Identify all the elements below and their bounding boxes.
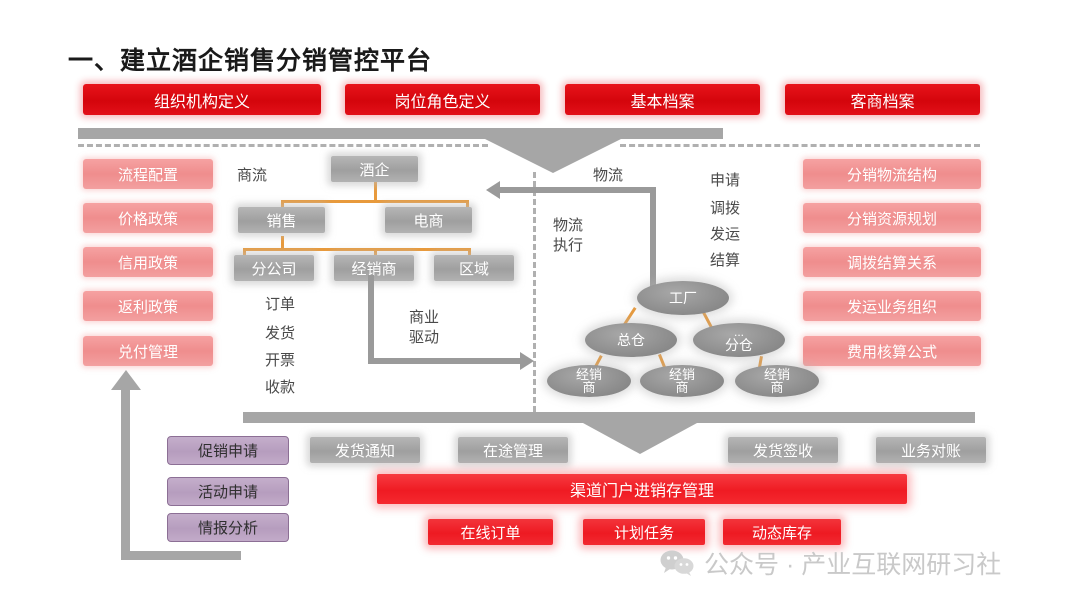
bottom-item-delivery-receipt[interactable]: 发货签收 — [728, 437, 838, 463]
left-button-credit-policy[interactable]: 信用政策 — [83, 247, 213, 277]
business-driver-line1: 商业 — [409, 309, 439, 326]
right-button-cost-formula[interactable]: 费用核算公式 — [803, 336, 981, 366]
top-button-job-role[interactable]: 岗位角色定义 — [345, 84, 540, 115]
logistics-section-label: 物流 — [593, 165, 623, 187]
bottom-item-in-transit-mgmt[interactable]: 在途管理 — [458, 437, 568, 463]
logistics-execution-label: 物流 执行 — [553, 216, 583, 257]
payment-feedback-arrow-base — [121, 551, 241, 560]
org-node-dealer[interactable]: 经销商 — [334, 255, 414, 281]
left-button-price-policy[interactable]: 价格政策 — [83, 203, 213, 233]
bottom-flow-down-arrow — [583, 423, 697, 454]
top-button-customer-archive[interactable]: 客商档案 — [785, 84, 980, 115]
network-node-dealer-3-line2: 商 — [764, 381, 790, 394]
logistics-exec-arrow-horizontal — [500, 187, 656, 193]
org-connector-level3-horizontal — [243, 248, 471, 251]
right-button-shipping-org[interactable]: 发运业务组织 — [803, 291, 981, 321]
commerce-step-shipment: 发货 — [265, 323, 295, 345]
org-connector-root-down — [374, 182, 377, 202]
bottom-button-intel-analysis[interactable]: 情报分析 — [167, 513, 289, 542]
dashed-divider-left — [78, 144, 488, 147]
right-button-transfer-settlement[interactable]: 调拨结算关系 — [803, 247, 981, 277]
bottom-item-business-reconcile[interactable]: 业务对账 — [876, 437, 986, 463]
business-driver-arrow-head — [520, 352, 534, 370]
commerce-step-invoice: 开票 — [265, 350, 295, 372]
logistics-step-ship: 发运 — [710, 224, 740, 246]
commerce-step-order: 订单 — [265, 294, 295, 316]
logistics-step-settle: 结算 — [710, 250, 740, 272]
network-node-dealer-2[interactable]: 经销 商 — [640, 365, 724, 397]
page-title: 一、建立酒企销售分销管控平台 — [68, 41, 432, 77]
commerce-section-label: 商流 — [237, 165, 267, 187]
commerce-step-collection: 收款 — [265, 377, 295, 399]
logistics-exec-line2: 执行 — [553, 237, 583, 254]
bottom-button-promotion-apply[interactable]: 促销申请 — [167, 436, 289, 465]
org-node-ecommerce[interactable]: 电商 — [385, 207, 472, 233]
dashed-divider-right — [620, 144, 980, 147]
left-button-process-config[interactable]: 流程配置 — [83, 159, 213, 189]
network-node-dealer-2-line2: 商 — [669, 381, 695, 394]
bottom-red-dynamic-inventory[interactable]: 动态库存 — [723, 519, 841, 545]
logistics-step-transfer: 调拨 — [710, 198, 740, 220]
network-node-dealer-1-line2: 商 — [576, 381, 602, 394]
payment-feedback-arrow-shaft — [121, 385, 130, 560]
business-driver-line2: 驱动 — [409, 329, 439, 346]
business-driver-label: 商业 驱动 — [409, 308, 439, 349]
commerce-logistics-divider — [533, 172, 536, 412]
business-driver-arrow-vertical — [368, 275, 374, 363]
org-node-liquor-company[interactable]: 酒企 — [331, 156, 418, 182]
wechat-icon — [660, 549, 694, 577]
logistics-exec-line1: 物流 — [553, 217, 583, 234]
bottom-red-plan-task[interactable]: 计划任务 — [583, 519, 705, 545]
top-button-org-structure[interactable]: 组织机构定义 — [83, 84, 321, 115]
org-connector-level2-horizontal — [281, 200, 469, 203]
logistics-exec-arrow-vertical — [650, 190, 656, 290]
bottom-button-activity-apply[interactable]: 活动申请 — [167, 477, 289, 506]
payment-feedback-arrow-head — [111, 370, 141, 390]
logistics-exec-arrow-head — [486, 181, 500, 199]
right-button-dist-resource-plan[interactable]: 分销资源规划 — [803, 203, 981, 233]
watermark: 公众号 · 产业互联网研习社 — [660, 545, 1001, 581]
channel-portal-bar[interactable]: 渠道门户进销存管理 — [377, 474, 907, 504]
left-button-payment-mgmt[interactable]: 兑付管理 — [83, 336, 213, 366]
top-button-basic-archive[interactable]: 基本档案 — [565, 84, 760, 115]
left-button-rebate-policy[interactable]: 返利政策 — [83, 291, 213, 321]
network-node-factory[interactable]: 工厂 — [637, 281, 729, 315]
org-node-region[interactable]: 区域 — [434, 255, 514, 281]
logistics-step-apply: 申请 — [710, 170, 740, 192]
network-node-dealer-3[interactable]: 经销 商 — [735, 365, 819, 397]
network-node-dealer-1[interactable]: 经销 商 — [547, 365, 631, 397]
top-flow-bar — [78, 128, 723, 139]
org-node-sales[interactable]: 销售 — [238, 207, 325, 233]
org-node-branch[interactable]: 分公司 — [234, 255, 314, 281]
bottom-red-online-order[interactable]: 在线订单 — [428, 519, 553, 545]
bottom-item-shipment-notice[interactable]: 发货通知 — [310, 437, 420, 463]
network-node-sub-warehouse-label: 分仓 — [725, 338, 753, 353]
watermark-text: 公众号 · 产业互联网研习社 — [704, 545, 1001, 581]
network-node-sub-warehouse[interactable]: ... 分仓 — [693, 323, 785, 357]
business-driver-arrow-horizontal — [368, 358, 520, 364]
network-node-main-warehouse[interactable]: 总仓 — [585, 323, 677, 357]
slide-canvas: 一、建立酒企销售分销管控平台 组织机构定义 岗位角色定义 基本档案 客商档案 流… — [0, 0, 1080, 608]
right-button-dist-logistics-structure[interactable]: 分销物流结构 — [803, 159, 981, 189]
bottom-flow-bar — [243, 412, 975, 423]
